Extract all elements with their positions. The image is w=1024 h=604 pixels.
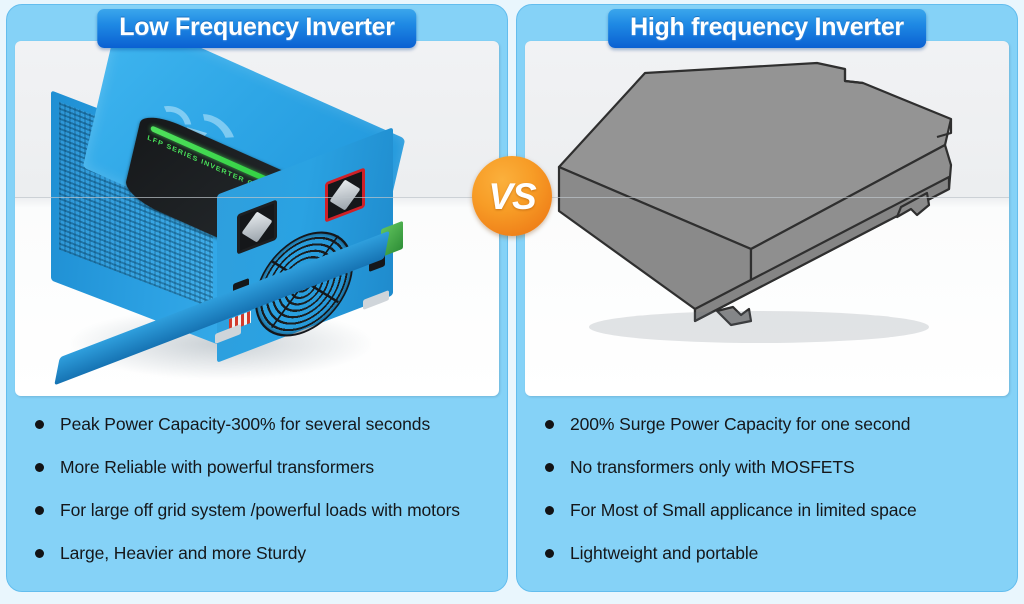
header-badge-high-frequency: High frequency Inverter (608, 9, 926, 48)
low-frequency-inverter-illustration: LFP SERIES INVERTER CHARGER ⎈ (29, 57, 449, 387)
product-image-low-frequency: LFP SERIES INVERTER CHARGER ⎈ (15, 41, 499, 396)
feature-text: No transformers only with MOSFETS (570, 457, 855, 477)
feature-text: For Most of Small applicance in limited … (570, 500, 917, 520)
high-frequency-inverter-illustration (545, 59, 985, 389)
header-badge-low-frequency: Low Frequency Inverter (97, 9, 416, 48)
terminal-bolt-icon (329, 179, 360, 210)
panel-high-frequency: High frequency Inverter (516, 4, 1018, 592)
vs-circle-badge: VS (472, 156, 552, 236)
bullet-icon (545, 420, 554, 429)
list-item: More Reliable with powerful transformers (33, 457, 491, 477)
list-item: No transformers only with MOSFETS (543, 457, 1001, 477)
vs-label: VS (488, 178, 535, 215)
bullet-icon (35, 549, 44, 558)
list-item: Lightweight and portable (543, 543, 1001, 563)
list-item: For Most of Small applicance in limited … (543, 500, 1001, 520)
feature-text: Large, Heavier and more Sturdy (60, 543, 306, 563)
list-item: Peak Power Capacity-300% for several sec… (33, 414, 491, 434)
list-item: 200% Surge Power Capacity for one second (543, 414, 1001, 434)
panel-title-low-frequency: Low Frequency Inverter (119, 13, 394, 41)
feature-text: Peak Power Capacity-300% for several sec… (60, 414, 430, 434)
feature-text: For large off grid system /powerful load… (60, 500, 460, 520)
bullet-icon (35, 463, 44, 472)
terminal-bolt-icon (241, 211, 272, 242)
list-item: Large, Heavier and more Sturdy (33, 543, 491, 563)
feature-text: Lightweight and portable (570, 543, 758, 563)
panel-low-frequency: Low Frequency Inverter (6, 4, 508, 592)
bullet-icon (545, 549, 554, 558)
inverter-comparison-graphic: Low Frequency Inverter (0, 0, 1024, 604)
bullet-icon (35, 506, 44, 515)
feature-text: More Reliable with powerful transformers (60, 457, 374, 477)
bullet-icon (545, 506, 554, 515)
product-image-high-frequency (525, 41, 1009, 396)
bullet-icon (545, 463, 554, 472)
list-item: For large off grid system /powerful load… (33, 500, 491, 520)
feature-list-high-frequency: 200% Surge Power Capacity for one second… (525, 414, 1009, 581)
panel-title-high-frequency: High frequency Inverter (630, 13, 904, 41)
feature-list-low-frequency: Peak Power Capacity-300% for several sec… (15, 414, 499, 581)
bullet-icon (35, 420, 44, 429)
feature-text: 200% Surge Power Capacity for one second (570, 414, 910, 434)
